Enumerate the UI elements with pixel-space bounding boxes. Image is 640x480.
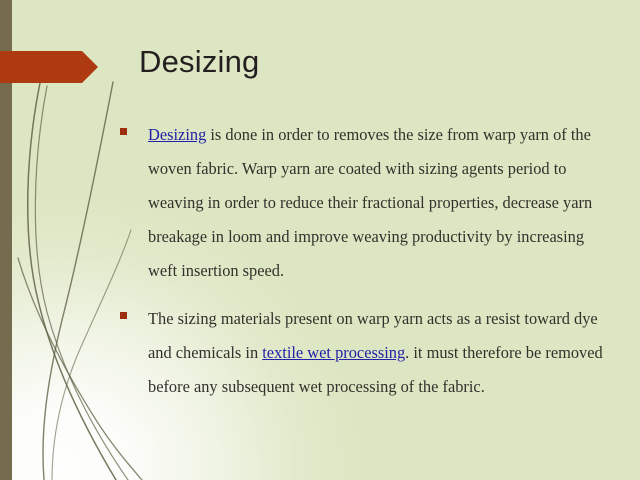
- square-bullet-icon: [120, 312, 127, 319]
- bullet-1-body: is done in order to removes the size fro…: [148, 125, 592, 280]
- bullet-item-2: The sizing materials present on warp yar…: [118, 302, 616, 404]
- bullet-item-1: Desizing is done in order to removes the…: [118, 118, 616, 288]
- presentation-slide: Desizing Desizing is done in order to re…: [0, 0, 640, 480]
- desizing-link[interactable]: Desizing: [148, 125, 206, 144]
- page-title: Desizing: [139, 44, 259, 80]
- bullet-text-1: Desizing is done in order to removes the…: [148, 118, 616, 288]
- textile-wet-processing-link[interactable]: textile wet processing: [262, 343, 405, 362]
- title-arrow-banner: [0, 51, 98, 83]
- slide-body: Desizing is done in order to removes the…: [118, 118, 616, 404]
- square-bullet-icon: [120, 128, 127, 135]
- bullet-text-2: The sizing materials present on warp yar…: [148, 302, 616, 404]
